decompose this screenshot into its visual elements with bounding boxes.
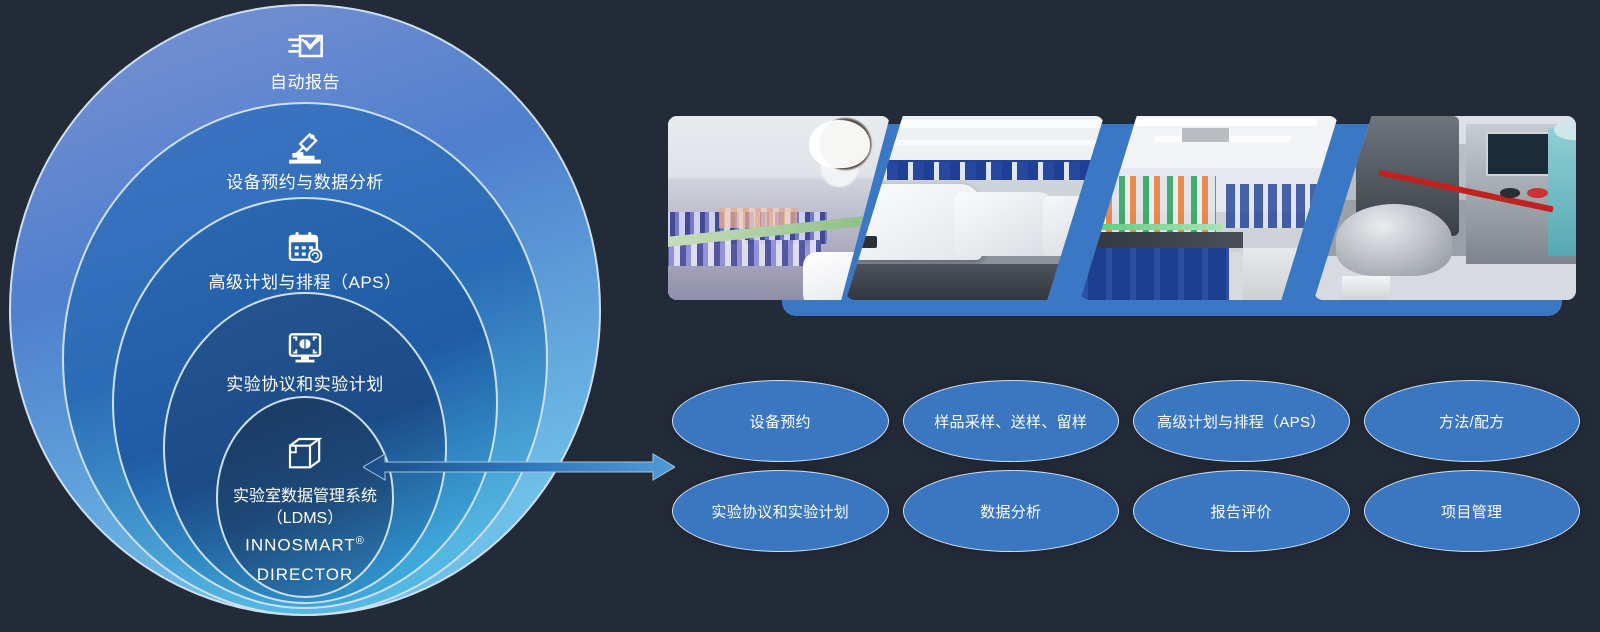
capability-label: 数据分析: [980, 501, 1041, 522]
auto-report-icon: [285, 26, 325, 66]
bidirectional-arrow: [363, 450, 675, 484]
capability-project-management[interactable]: 项目管理: [1364, 470, 1581, 552]
capability-label: 实验协议和实验计划: [711, 501, 849, 522]
monitor-brain-icon: [286, 328, 324, 366]
capability-data-analysis[interactable]: 数据分析: [903, 470, 1120, 552]
capability-label: 报告评价: [1211, 501, 1272, 522]
core-title-line2: （LDMS）: [267, 504, 343, 528]
core-brand-name: INNOSMART: [245, 536, 356, 555]
capability-label: 高级计划与排程（APS）: [1157, 411, 1326, 432]
ring-label-aps: 高级计划与排程（APS）: [208, 268, 401, 293]
registered-mark-icon: ®: [356, 535, 365, 547]
capability-label: 方法/配方: [1439, 411, 1505, 432]
diagram-canvas: 自动报告 设备预约与数据分析: [0, 0, 1600, 632]
calendar-schedule-icon: [286, 228, 324, 266]
capability-label: 样品采样、送样、留样: [934, 411, 1087, 432]
capability-protocol-plan[interactable]: 实验协议和实验计划: [672, 470, 889, 552]
core-title-line1: 实验室数据管理系统: [233, 482, 377, 506]
core-brand: INNOSMART®: [245, 535, 365, 556]
capability-report-evaluation[interactable]: 报告评价: [1133, 470, 1350, 552]
ring-label-protocol-plan: 实验协议和实验计划: [226, 370, 384, 395]
capability-method-recipe[interactable]: 方法/配方: [1364, 380, 1581, 462]
capability-equipment-booking[interactable]: 设备预约: [672, 380, 889, 462]
capability-sampling[interactable]: 样品采样、送样、留样: [903, 380, 1120, 462]
microscope-icon: [286, 128, 324, 166]
capability-label: 项目管理: [1441, 501, 1502, 522]
onion-diagram: 自动报告 设备预约与数据分析: [0, 0, 640, 632]
core-brand-line2: DIRECTOR: [257, 565, 353, 585]
photo-strip: [668, 116, 1576, 316]
capability-grid: 设备预约 样品采样、送样、留样 高级计划与排程（APS） 方法/配方 实验协议和…: [672, 380, 1580, 552]
capability-aps[interactable]: 高级计划与排程（APS）: [1133, 380, 1350, 462]
ring-label-auto-report: 自动报告: [270, 68, 340, 93]
capability-label: 设备预约: [750, 411, 811, 432]
cube-icon: [285, 434, 325, 474]
ring-label-equipment-booking: 设备预约与数据分析: [226, 168, 384, 193]
